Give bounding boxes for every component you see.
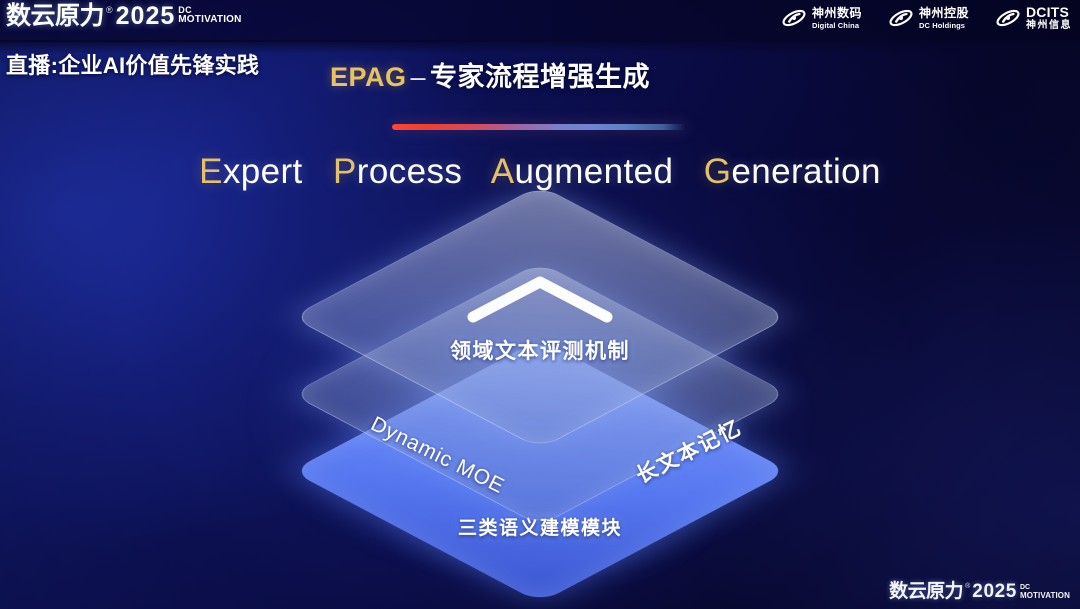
expansion-word-expert: Expert	[199, 152, 303, 191]
expansion-space	[313, 152, 323, 191]
partner-name-en: Digital China	[812, 22, 862, 30]
partner-logo-text: 神州数码 Digital China	[812, 7, 862, 29]
expansion-rest: rocess	[357, 152, 463, 191]
watermark-dc-motivation: DC MOTIVATION	[1020, 582, 1070, 600]
partner-name-cn: DCITS	[1026, 5, 1072, 19]
page-title: EPAG–专家流程增强生成	[330, 55, 650, 94]
partner-logo-text: DCITS 神州信息	[1026, 5, 1072, 31]
title-dash: –	[407, 62, 431, 92]
brand-registered-mark: ®	[106, 3, 113, 16]
expansion-word-process: Process	[333, 152, 462, 191]
partner-logo-text: 神州控股 DC Holdings	[919, 7, 969, 29]
swirl-logo-icon	[781, 5, 807, 31]
brand-dc-motivation: DC MOTIVATION	[178, 3, 241, 25]
expansion-space	[472, 152, 482, 191]
watermark-year: 2025	[972, 582, 1017, 602]
expansion-rest: xpert	[223, 152, 303, 191]
title-acronym: EPAG	[330, 62, 407, 92]
watermark-name-cn: 数云原力	[889, 582, 963, 602]
partner-logo-bar: 神州数码 Digital China 神州控股 DC Holdings	[781, 5, 1072, 31]
brand-motivation-label: MOTIVATION	[178, 15, 241, 25]
partner-name-cn: 神州数码	[812, 7, 862, 19]
acronym-expansion: Expert Process Augmented Generation	[0, 152, 1080, 192]
watermark-registered-mark: ®	[965, 582, 970, 591]
swirl-logo-icon	[888, 5, 914, 31]
brand-year: 2025	[116, 3, 176, 29]
expansion-cap: G	[704, 152, 732, 191]
watermark-motivation-label: MOTIVATION	[1020, 592, 1070, 600]
swirl-logo-icon	[995, 5, 1021, 31]
gradient-divider	[392, 124, 687, 130]
diagram-layer-bottom-label: 三类语义建模模块	[458, 513, 622, 540]
expansion-rest: eneration	[731, 152, 881, 191]
partner-name-en: 神州信息	[1026, 21, 1072, 31]
broadcast-subtitle: 直播:企业AI价值先锋实践	[6, 48, 259, 80]
expansion-word-generation: Generation	[704, 152, 881, 191]
chevron-up-icon	[465, 273, 615, 325]
slide-canvas: 数云原力 ® 2025 DC MOTIVATION 直播:企业AI价值先锋实践 …	[0, 0, 1080, 609]
partner-name-en: DC Holdings	[919, 22, 969, 30]
brand-name-cn: 数云原力	[6, 3, 104, 29]
expansion-word-augmented: Augmented	[491, 152, 674, 191]
layered-architecture-diagram: 领域文本评测机制 Dynamic MOE 长文本记忆 三类语义建模模块	[290, 225, 790, 570]
expansion-space	[683, 152, 693, 191]
expansion-cap: P	[333, 152, 357, 191]
partner-logo-dcits: DCITS 神州信息	[995, 5, 1072, 31]
title-chinese: 专家流程增强生成	[430, 62, 650, 92]
expansion-rest: ugmented	[514, 152, 673, 191]
expansion-cap: A	[491, 152, 515, 191]
partner-logo-digital-china: 神州数码 Digital China	[781, 5, 862, 31]
expansion-cap: E	[199, 152, 223, 191]
brand-logo: 数云原力 ® 2025 DC MOTIVATION	[6, 3, 242, 29]
corner-watermark: 数云原力 ® 2025 DC MOTIVATION	[889, 582, 1070, 602]
diagram-layer-top-label: 领域文本评测机制	[450, 335, 630, 365]
partner-name-cn: 神州控股	[919, 7, 969, 19]
partner-logo-dc-holdings: 神州控股 DC Holdings	[888, 5, 969, 31]
